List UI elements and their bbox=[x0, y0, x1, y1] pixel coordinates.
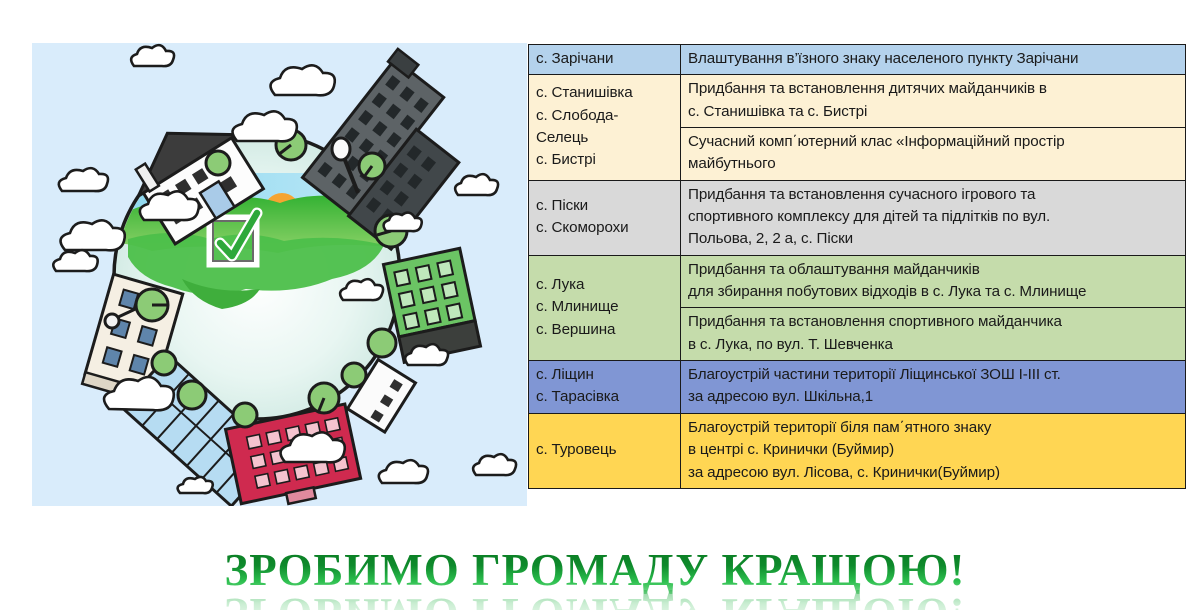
location-cell: с. Ліщин с. Тарасівка bbox=[529, 361, 681, 414]
description-cell: Сучасний комп΄ютерний клас «Інформаційни… bbox=[681, 128, 1186, 181]
description-cell: Влаштування в’їзного знаку населеного пу… bbox=[681, 45, 1186, 75]
description-cell: Благоустрій частини території Ліщинської… bbox=[681, 361, 1186, 414]
location-cell: с. Зарічани bbox=[529, 45, 681, 75]
table-row[interactable]: с. Піски с. Скоморохи Придбання та встан… bbox=[529, 180, 1186, 255]
community-projects-table: с. Зарічани Влаштування в’їзного знаку н… bbox=[528, 44, 1186, 489]
location-cell: с. Піски с. Скоморохи bbox=[529, 180, 681, 255]
description-cell: Придбання та встановлення дитячих майдан… bbox=[681, 75, 1186, 128]
table-row[interactable]: с. Туровець Благоустрій території біля п… bbox=[529, 413, 1186, 488]
description-cell: Благоустрій території біля пам΄ятного зн… bbox=[681, 413, 1186, 488]
table-body: с. Зарічани Влаштування в’їзного знаку н… bbox=[529, 45, 1186, 489]
table-row[interactable]: с. Станишівка с. Слобода- Селець с. Бист… bbox=[529, 75, 1186, 128]
slogan-text: ЗРОБИМО ГРОМАДУ КРАЩОЮ! bbox=[224, 548, 965, 594]
eco-globe-svg bbox=[32, 43, 527, 506]
table-row[interactable]: с. Лука с. Млинище с. Вершина Придбання … bbox=[529, 255, 1186, 308]
community-illustration bbox=[32, 43, 527, 506]
slogan-banner: ЗРОБИМО ГРОМАДУ КРАЩОЮ! ЗРОБИМО ГРОМАДУ … bbox=[0, 548, 1190, 610]
table-row[interactable]: с. Зарічани Влаштування в’їзного знаку н… bbox=[529, 45, 1186, 75]
location-cell: с. Лука с. Млинище с. Вершина bbox=[529, 255, 681, 360]
description-cell: Придбання та встановлення сучасного ігро… bbox=[681, 180, 1186, 255]
location-cell: с. Станишівка с. Слобода- Селець с. Бист… bbox=[529, 75, 681, 180]
location-cell: с. Туровець bbox=[529, 413, 681, 488]
table-row[interactable]: с. Ліщин с. Тарасівка Благоустрій частин… bbox=[529, 361, 1186, 414]
description-cell: Придбання та облаштування майданчиків дл… bbox=[681, 255, 1186, 308]
slogan-reflection: ЗРОБИМО ГРОМАДУ КРАЩОЮ! bbox=[224, 590, 965, 610]
description-cell: Придбання та встановлення спортивного ма… bbox=[681, 308, 1186, 361]
